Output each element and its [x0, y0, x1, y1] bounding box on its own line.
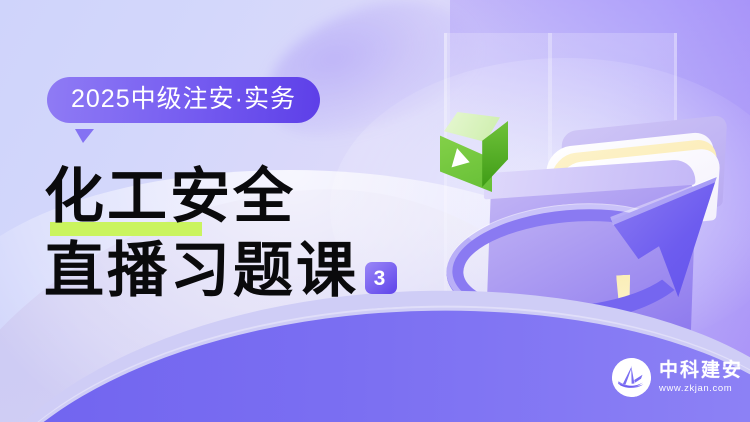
episode-number-badge: 3 — [365, 262, 397, 294]
brand-name: 中科建安 — [659, 361, 743, 381]
brand-logo-text: 中科建安 www.zkjan.com — [659, 361, 743, 395]
badge-pill-tail — [75, 129, 94, 143]
course-promo-banner: 2025中级注安·实务 化工安全 直播习题课 3 中科建安 www.zkjan.… — [0, 0, 750, 422]
brand-url: www.zkjan.com — [659, 383, 743, 394]
page-title: 化工安全 直播习题课 3 — [44, 160, 464, 308]
title-line-2-text: 直播习题课 — [44, 234, 359, 308]
brand-logo: 中科建安 www.zkjan.com — [612, 358, 743, 397]
zkjan-swoosh-logo-icon — [612, 358, 651, 397]
title-line-1-text: 化工安全 — [44, 164, 296, 230]
title-line-1: 化工安全 — [44, 160, 464, 234]
title-line-2: 直播习题课 3 — [44, 234, 464, 308]
course-category-badge: 2025中级注安·实务 — [47, 77, 320, 123]
